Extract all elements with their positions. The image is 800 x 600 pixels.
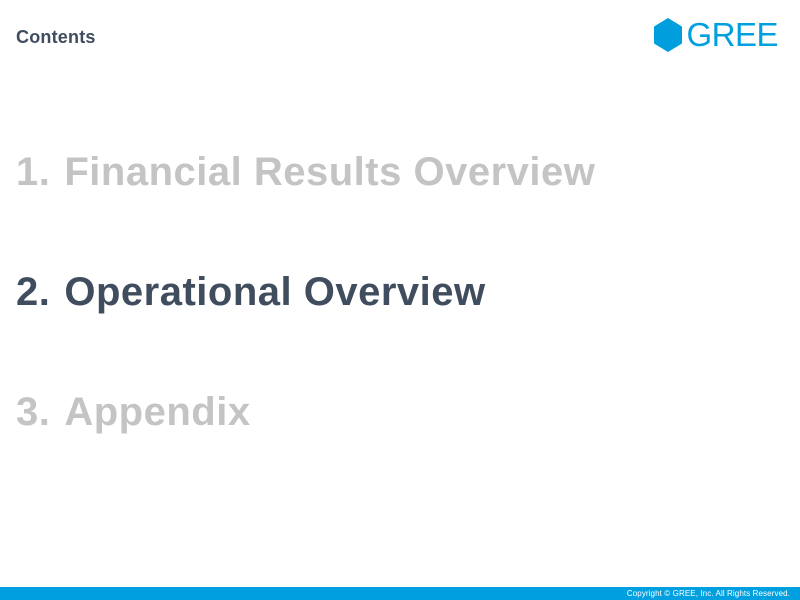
agenda-item-operational-overview[interactable]: 2. Operational Overview [16, 270, 784, 390]
agenda-item-number: 1. [16, 150, 50, 195]
agenda-item-financial-results-overview[interactable]: 1. Financial Results Overview [16, 150, 784, 270]
copyright-text: Copyright © GREE, Inc. All Rights Reserv… [627, 590, 790, 598]
gree-logo: GREE [653, 16, 778, 54]
gree-wordmark: GREE [686, 18, 778, 51]
hexagon-icon [653, 18, 683, 52]
agenda-item-number: 3. [16, 390, 50, 435]
slide-footer-bar: Copyright © GREE, Inc. All Rights Reserv… [0, 587, 800, 600]
agenda-item-label: Operational Overview [64, 270, 485, 315]
agenda-item-appendix[interactable]: 3. Appendix [16, 390, 784, 510]
agenda-item-label: Financial Results Overview [64, 150, 595, 195]
slide-canvas: Contents GREE 1. Financial Results Overv… [0, 0, 800, 600]
agenda-list: 1. Financial Results Overview 2. Operati… [16, 150, 784, 510]
slide-header: Contents GREE [0, 0, 800, 80]
agenda-item-label: Appendix [64, 390, 250, 435]
agenda-item-number: 2. [16, 270, 50, 315]
page-title: Contents [16, 28, 96, 46]
